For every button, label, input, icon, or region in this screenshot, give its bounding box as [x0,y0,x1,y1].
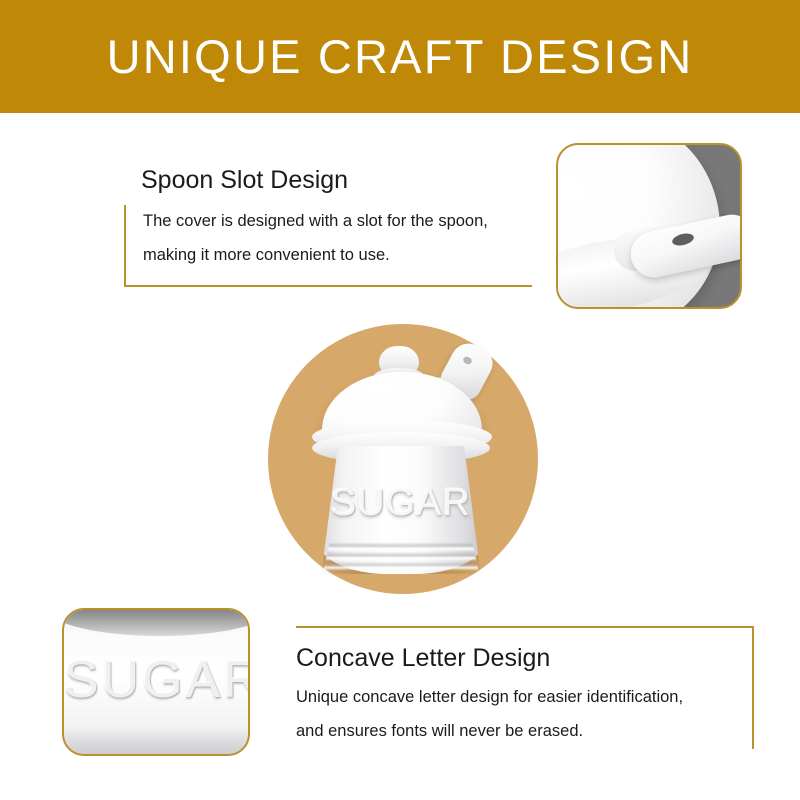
feature-body-line-1: The cover is designed with a slot for th… [143,205,532,239]
feature-body-line-2: and ensures fonts will never be erased. [296,715,738,749]
photo-sugar-jar-hero: SUGAR [268,324,538,594]
header-banner: UNIQUE CRAFT DESIGN [0,0,800,113]
feature-block-spoon-slot: Spoon Slot Design The cover is designed … [124,168,532,287]
hero-jar-base-rings [320,542,482,572]
feature-body-spoon-slot: The cover is designed with a slot for th… [124,205,532,287]
feature-body-concave-letter: Concave Letter Design Unique concave let… [296,626,754,749]
emboss-bottom-shade [64,728,250,754]
photo-sugar-embossed-closeup: SUGAR [62,608,250,756]
feature-title-concave-letter: Concave Letter Design [296,646,738,671]
emboss-top-shadow [62,608,250,636]
emboss-word-sugar: SUGAR [64,650,250,710]
photo-lid-spoon-slot-closeup [556,143,742,309]
feature-body-line-1: Unique concave letter design for easier … [296,681,738,715]
hero-product-stage: SUGAR [268,324,538,594]
feature-title-spoon-slot: Spoon Slot Design [124,168,532,193]
feature-block-concave-letter: Concave Letter Design Unique concave let… [296,626,754,749]
feature-body-line-2: making it more convenient to use. [143,239,532,273]
page-title: UNIQUE CRAFT DESIGN [0,0,800,113]
hero-jar-embossed-word: SUGAR [318,482,484,525]
